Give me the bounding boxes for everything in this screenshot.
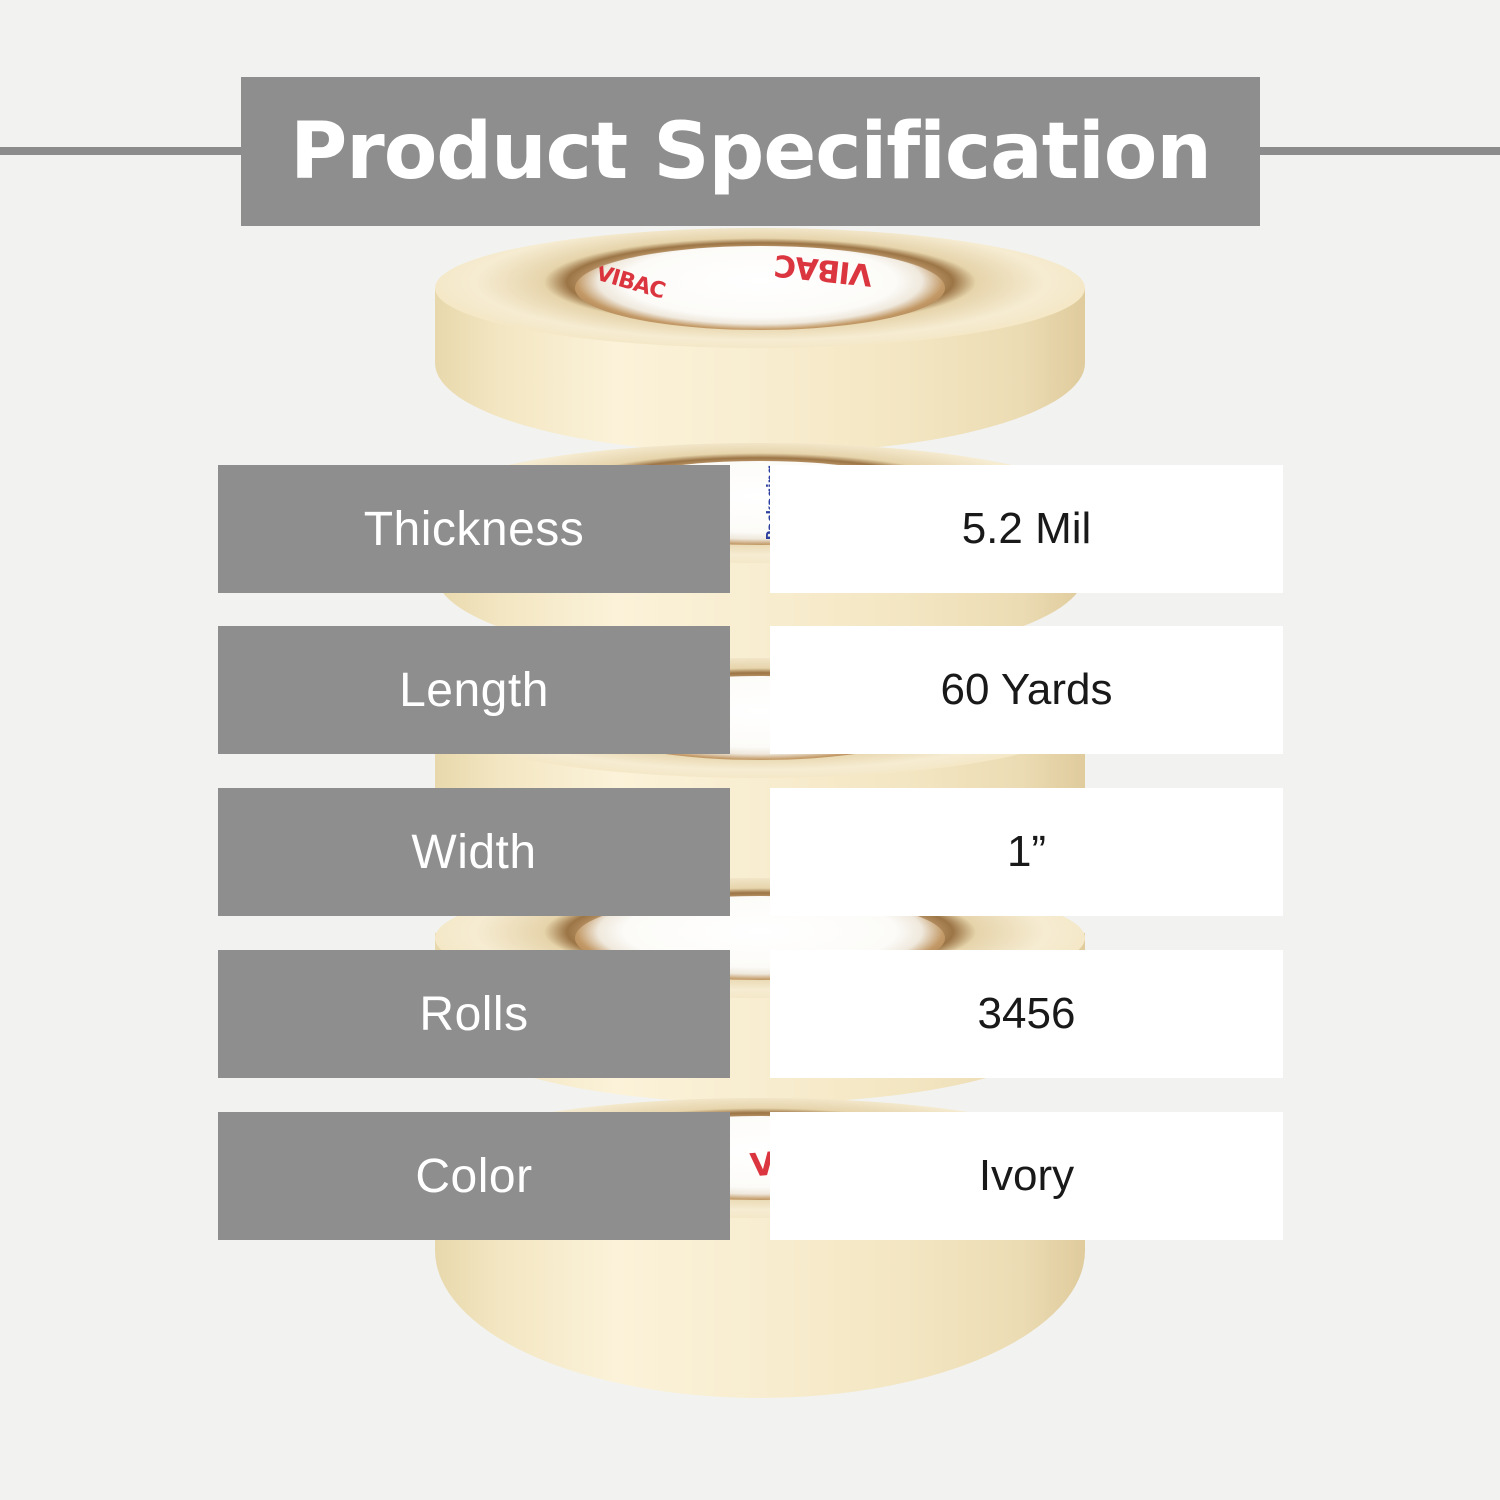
spec-value-length: 60 Yards bbox=[940, 665, 1112, 715]
spec-label-width: Width bbox=[411, 825, 536, 880]
spec-value-cell-length: 60 Yards bbox=[770, 626, 1283, 754]
product-specification-infographic: Product Specification VIBAC VIBAC Packag… bbox=[0, 0, 1500, 1500]
tape-roll-1-core: VIBAC VIBAC bbox=[575, 246, 945, 330]
spec-label-cell-rolls: Rolls bbox=[218, 950, 730, 1078]
spec-value-cell-width: 1” bbox=[770, 788, 1283, 916]
spec-label-color: Color bbox=[415, 1149, 532, 1204]
spec-label-cell-length: Length bbox=[218, 626, 730, 754]
spec-value-cell-color: Ivory bbox=[770, 1112, 1283, 1240]
spec-row-width: Width 1” bbox=[0, 788, 1500, 916]
spec-value-thickness: 5.2 Mil bbox=[962, 504, 1092, 554]
spec-label-cell-thickness: Thickness bbox=[218, 465, 730, 593]
header-title-band: Product Specification bbox=[241, 77, 1260, 226]
spec-label-length: Length bbox=[399, 663, 549, 718]
page-title: Product Specification bbox=[290, 113, 1211, 191]
spec-value-rolls: 3456 bbox=[978, 989, 1076, 1039]
spec-row-thickness: Thickness 5.2 Mil bbox=[0, 465, 1500, 593]
spec-label-cell-width: Width bbox=[218, 788, 730, 916]
spec-row-length: Length 60 Yards bbox=[0, 626, 1500, 754]
spec-value-cell-thickness: 5.2 Mil bbox=[770, 465, 1283, 593]
spec-value-width: 1” bbox=[1007, 827, 1046, 877]
spec-value-cell-rolls: 3456 bbox=[770, 950, 1283, 1078]
vibac-brand-text-2: VIBAC bbox=[593, 261, 667, 304]
spec-row-rolls: Rolls 3456 bbox=[0, 950, 1500, 1078]
spec-label-cell-color: Color bbox=[218, 1112, 730, 1240]
vibac-brand-text-1: VIBAC bbox=[773, 247, 874, 292]
spec-value-color: Ivory bbox=[979, 1151, 1074, 1201]
spec-label-thickness: Thickness bbox=[364, 502, 585, 557]
spec-label-rolls: Rolls bbox=[419, 987, 528, 1042]
spec-row-color: Color Ivory bbox=[0, 1112, 1500, 1240]
